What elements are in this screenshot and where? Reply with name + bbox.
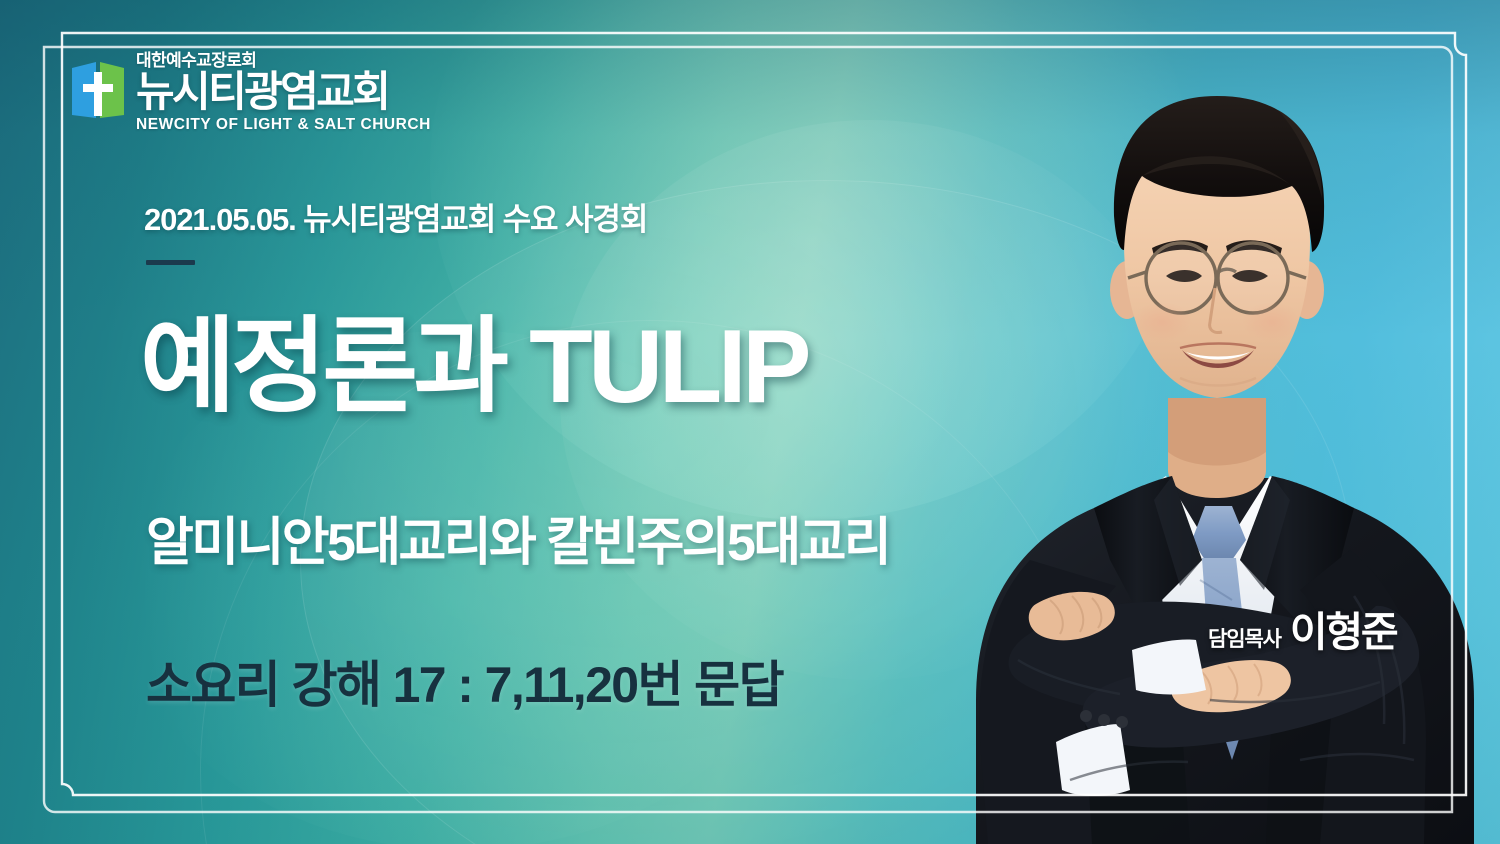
title-main: 예정론과 TULIP <box>140 312 807 422</box>
church-name-en: NEWCITY OF LIGHT & SALT CHURCH <box>136 117 431 133</box>
denomination-label: 대한예수교장로회 <box>136 52 431 69</box>
poster-canvas: 담임목사 이형준 대한예수교장로회 뉴시티광염교회 NEWCITY OF LIG… <box>0 0 1500 844</box>
title-subtitle: 알미니안5대교리와 칼빈주의5대교리 <box>146 500 889 575</box>
event-date-line: 2021.05.05. 뉴시티광염교회 수요 사경회 <box>144 194 647 239</box>
title-scripture-reference: 소요리 강해 17 : 7,11,20번 문답 <box>146 645 783 717</box>
church-logo: 대한예수교장로회 뉴시티광염교회 NEWCITY OF LIGHT & SALT… <box>70 52 431 133</box>
speaker-name-overlay: 담임목사 이형준 <box>1208 598 1396 658</box>
speaker-role: 담임목사 <box>1208 623 1281 653</box>
open-book-cross-icon <box>70 60 126 124</box>
church-name-ko: 뉴시티광염교회 <box>136 71 431 113</box>
logo-text-column: 대한예수교장로회 뉴시티광염교회 NEWCITY OF LIGHT & SALT… <box>136 52 431 133</box>
speaker-photo <box>880 0 1500 844</box>
speaker-name: 이형준 <box>1290 598 1397 658</box>
title-divider <box>146 260 195 265</box>
